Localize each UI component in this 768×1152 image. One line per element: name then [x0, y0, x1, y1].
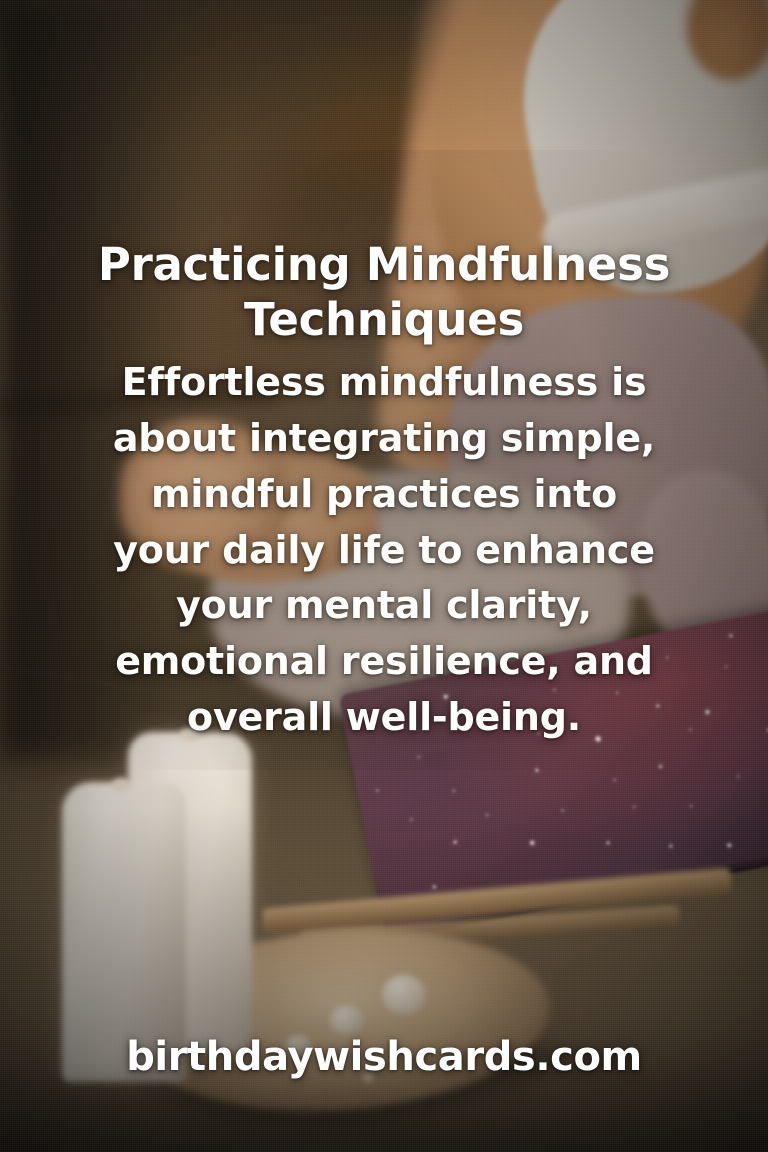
- card-body-text: Effortless mindfulness is about integrat…: [108, 355, 660, 746]
- site-url-watermark: birthdaywishcards.com: [0, 1034, 768, 1080]
- text-overlay: Practicing Mindfulness Techniques Effort…: [0, 0, 768, 1152]
- pinterest-quote-card: Practicing Mindfulness Techniques Effort…: [0, 0, 768, 1152]
- card-headline: Practicing Mindfulness Techniques: [84, 238, 684, 348]
